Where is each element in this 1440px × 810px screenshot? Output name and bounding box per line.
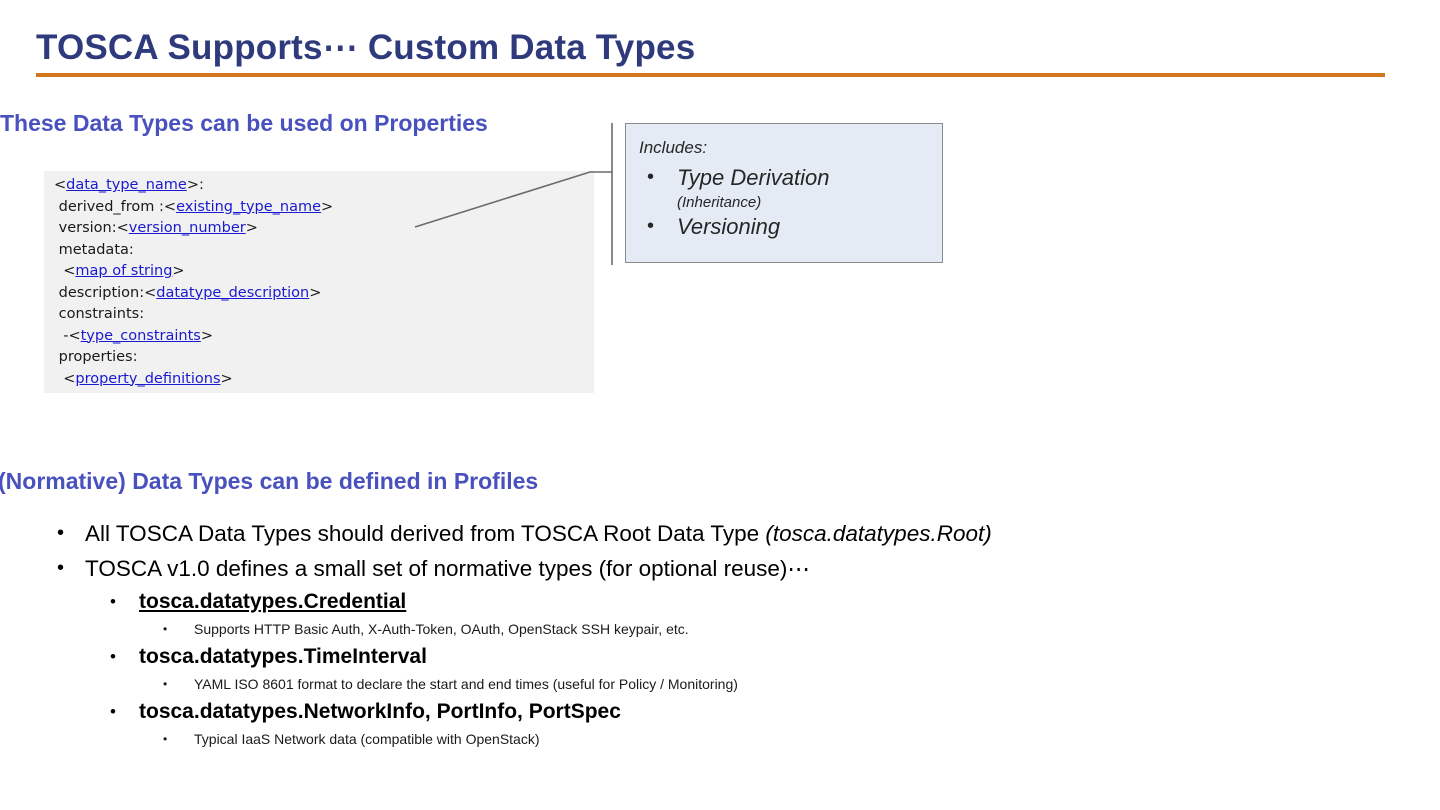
- code-block-yaml: <data_type_name>: derived_from :<existin…: [54, 175, 333, 390]
- bullet-item-level-2: •tosca.datatypes.TimeInterval: [0, 641, 1440, 672]
- bullet-item-level-3: •Typical IaaS Network data (compatible w…: [0, 727, 1440, 751]
- bullet-label: Supports HTTP Basic Auth, X-Auth-Token, …: [194, 621, 689, 637]
- code-line: <map of string>: [54, 261, 333, 283]
- section-heading-profiles: (Normative) Data Types can be defined in…: [0, 468, 538, 495]
- bullet-label: tosca.datatypes.Credential: [139, 590, 406, 613]
- code-placeholder-link[interactable]: type_constraints: [81, 328, 201, 344]
- profiles-bullet-list: •All TOSCA Data Types should derived fro…: [0, 516, 1440, 751]
- bullet-label: tosca.datatypes.TimeInterval: [139, 645, 427, 668]
- bullet-item-level-2: •tosca.datatypes.NetworkInfo, PortInfo, …: [0, 696, 1440, 727]
- bullet-dot-icon: •: [110, 696, 116, 727]
- bullet-label: All TOSCA Data Types should derived from…: [85, 521, 765, 546]
- code-text: <: [63, 371, 75, 387]
- code-text: >: [172, 263, 184, 279]
- code-line: constraints:: [54, 304, 333, 326]
- title-underline-rule: [36, 73, 1385, 77]
- bullet-dot-icon: •: [110, 641, 116, 672]
- bullet-label: TOSCA v1.0 defines a small set of normat…: [85, 556, 810, 581]
- callout-list-item: •Versioning: [639, 213, 934, 241]
- page-title: TOSCA Supports⋯ Custom Data Types: [36, 28, 695, 68]
- bullet-dot-icon: •: [163, 672, 167, 696]
- callout-item-list: •Type Derivation(Inheritance)•Versioning: [639, 164, 934, 241]
- callout-item-subnote: (Inheritance): [639, 192, 934, 213]
- bullet-item-level-2: •tosca.datatypes.Credential: [0, 586, 1440, 617]
- code-text: description:<: [59, 285, 157, 301]
- code-text: -<: [63, 328, 80, 344]
- code-placeholder-link[interactable]: map of string: [75, 263, 172, 279]
- code-text: >: [246, 220, 258, 236]
- code-text: <: [63, 263, 75, 279]
- code-text: >: [221, 371, 233, 387]
- bullet-dot-icon: •: [647, 164, 654, 190]
- code-indent: [54, 371, 63, 387]
- code-text: metadata:: [59, 242, 134, 258]
- code-line: <property_definitions>: [54, 369, 333, 391]
- code-text: >:: [187, 177, 204, 193]
- code-placeholder-link[interactable]: property_definitions: [75, 371, 220, 387]
- section-heading-properties: These Data Types can be used on Properti…: [0, 110, 488, 137]
- callout-title: Includes:: [639, 138, 707, 158]
- code-line: -<type_constraints>: [54, 326, 333, 348]
- code-placeholder-link[interactable]: existing_type_name: [176, 199, 321, 215]
- code-text: constraints:: [59, 306, 144, 322]
- bullet-item-level-1: •All TOSCA Data Types should derived fro…: [0, 516, 1440, 551]
- code-line: derived_from :<existing_type_name>: [54, 197, 333, 219]
- bullet-dot-icon: •: [647, 213, 654, 239]
- bullet-label: Typical IaaS Network data (compatible wi…: [194, 731, 540, 747]
- code-line: version:<version_number>: [54, 218, 333, 240]
- bullet-dot-icon: •: [110, 586, 116, 617]
- code-text: version:<: [59, 220, 129, 236]
- code-placeholder-link[interactable]: datatype_description: [156, 285, 309, 301]
- bullet-dot-icon: •: [57, 516, 64, 551]
- bullet-label-emphasis: (tosca.datatypes.Root): [765, 521, 991, 546]
- callout-item-label: Versioning: [677, 213, 934, 241]
- code-indent: [54, 263, 63, 279]
- bullet-label: tosca.datatypes.NetworkInfo, PortInfo, P…: [139, 700, 621, 723]
- code-text: derived_from :<: [59, 199, 176, 215]
- code-placeholder-link[interactable]: data_type_name: [66, 177, 187, 193]
- bullet-item-level-3: •YAML ISO 8601 format to declare the sta…: [0, 672, 1440, 696]
- code-text: properties:: [59, 349, 138, 365]
- bullet-dot-icon: •: [57, 551, 64, 586]
- bullet-label: YAML ISO 8601 format to declare the star…: [194, 676, 738, 692]
- bullet-dot-icon: •: [163, 727, 167, 751]
- bullet-item-level-1: •TOSCA v1.0 defines a small set of norma…: [0, 551, 1440, 586]
- code-text: >: [309, 285, 321, 301]
- bullet-dot-icon: •: [163, 617, 167, 641]
- code-placeholder-link[interactable]: version_number: [129, 220, 246, 236]
- bullet-item-level-3: •Supports HTTP Basic Auth, X-Auth-Token,…: [0, 617, 1440, 641]
- code-line: <data_type_name>:: [54, 175, 333, 197]
- callout-item-label: Type Derivation: [677, 164, 934, 192]
- callout-list-item: •Type Derivation: [639, 164, 934, 192]
- code-text: >: [201, 328, 213, 344]
- code-text: >: [321, 199, 333, 215]
- callout-box: Includes: •Type Derivation(Inheritance)•…: [625, 123, 943, 263]
- code-indent: [54, 328, 63, 344]
- code-line: metadata:: [54, 240, 333, 262]
- code-text: <: [54, 177, 66, 193]
- code-line: properties:: [54, 347, 333, 369]
- code-line: description:<datatype_description>: [54, 283, 333, 305]
